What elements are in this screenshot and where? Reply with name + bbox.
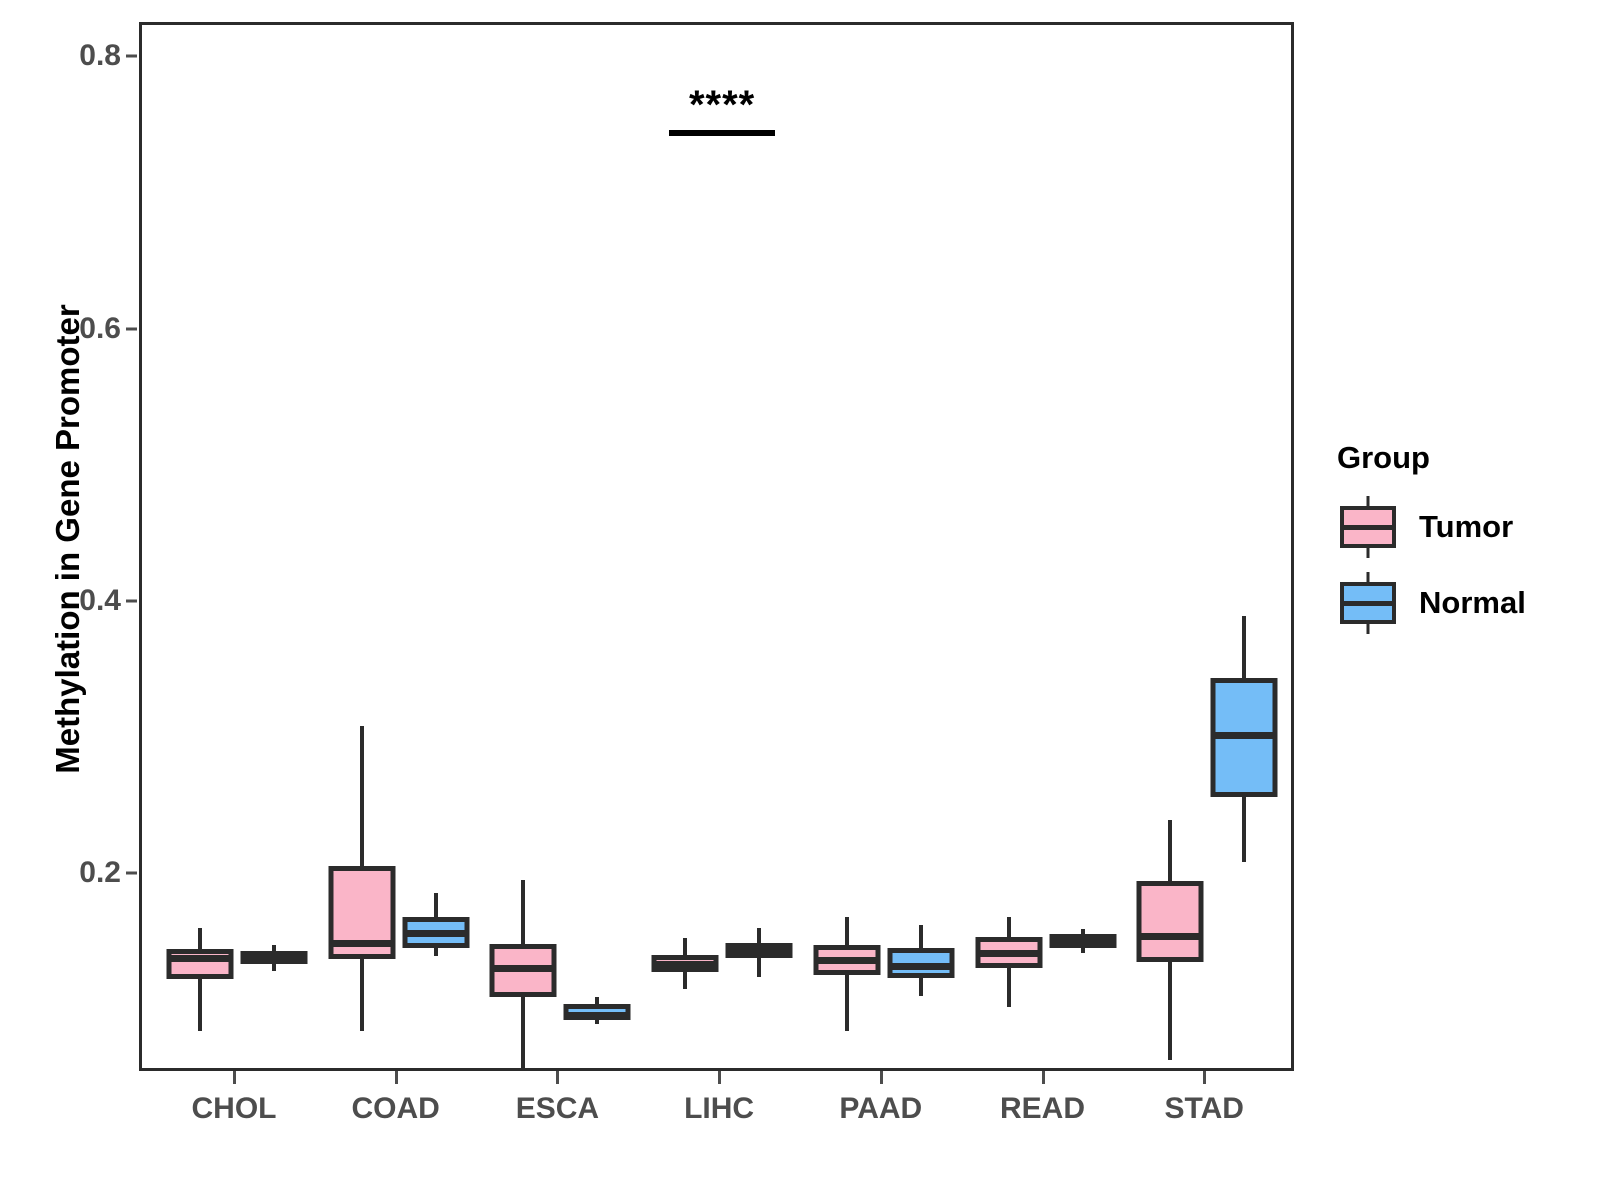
y-tick-mark <box>126 872 137 875</box>
x-tick-label-paad: PAAD <box>839 1092 922 1126</box>
x-tick-mark <box>233 1071 236 1084</box>
significance-stars: **** <box>689 85 755 125</box>
median-line <box>241 953 308 960</box>
y-tick-label: 0.6 <box>5 312 121 346</box>
legend-label-tumor: Tumor <box>1419 509 1513 545</box>
y-tick-mark <box>126 327 137 330</box>
whisker <box>198 928 202 1032</box>
plot-area: **** <box>142 25 1291 1068</box>
box-tumor-stad[interactable] <box>1137 881 1204 961</box>
median-line <box>167 955 234 962</box>
x-tick-label-read: READ <box>1000 1092 1085 1126</box>
legend-title: Group <box>1337 440 1577 476</box>
x-tick-mark <box>395 1071 398 1084</box>
chart-root: Methylation in Gene Promoter 0.20.40.60.… <box>0 0 1600 1200</box>
significance-bar <box>669 130 775 136</box>
y-tick-label: 0.2 <box>5 856 121 890</box>
x-tick-mark <box>1042 1071 1045 1084</box>
y-tick-label: 0.4 <box>5 584 121 618</box>
x-tick-label-chol: CHOL <box>192 1092 277 1126</box>
median-line <box>1211 732 1278 739</box>
x-tick-label-esca: ESCA <box>516 1092 599 1126</box>
median-line <box>1049 937 1116 944</box>
legend-key-tumor <box>1337 496 1399 558</box>
x-tick-mark <box>718 1071 721 1084</box>
median-line <box>975 950 1042 957</box>
legend-item-normal[interactable]: Normal <box>1337 570 1577 636</box>
x-tick-mark <box>1203 1071 1206 1084</box>
median-line <box>813 957 880 964</box>
plot-panel: **** <box>139 22 1294 1071</box>
y-axis-label: Methylation in Gene Promoter <box>49 189 87 889</box>
x-tick-label-coad: COAD <box>352 1092 440 1126</box>
y-tick-mark <box>126 599 137 602</box>
x-tick-label-lihc: LIHC <box>684 1092 754 1126</box>
median-line <box>328 940 395 947</box>
median-line <box>402 930 469 937</box>
legend-item-tumor[interactable]: Tumor <box>1337 494 1577 560</box>
median-line <box>726 946 793 953</box>
median-line <box>652 961 719 968</box>
median-line <box>1137 933 1204 940</box>
median-line <box>887 963 954 970</box>
median-line <box>490 965 557 972</box>
median-line <box>564 1012 631 1019</box>
legend-key-normal <box>1337 572 1399 634</box>
x-tick-mark <box>556 1071 559 1084</box>
y-tick-label: 0.8 <box>5 39 121 73</box>
y-tick-mark <box>126 55 137 58</box>
legend-label-normal: Normal <box>1419 585 1526 621</box>
legend: Group Tumor Normal <box>1337 440 1577 646</box>
x-tick-mark <box>880 1071 883 1084</box>
x-tick-label-stad: STAD <box>1164 1092 1243 1126</box>
